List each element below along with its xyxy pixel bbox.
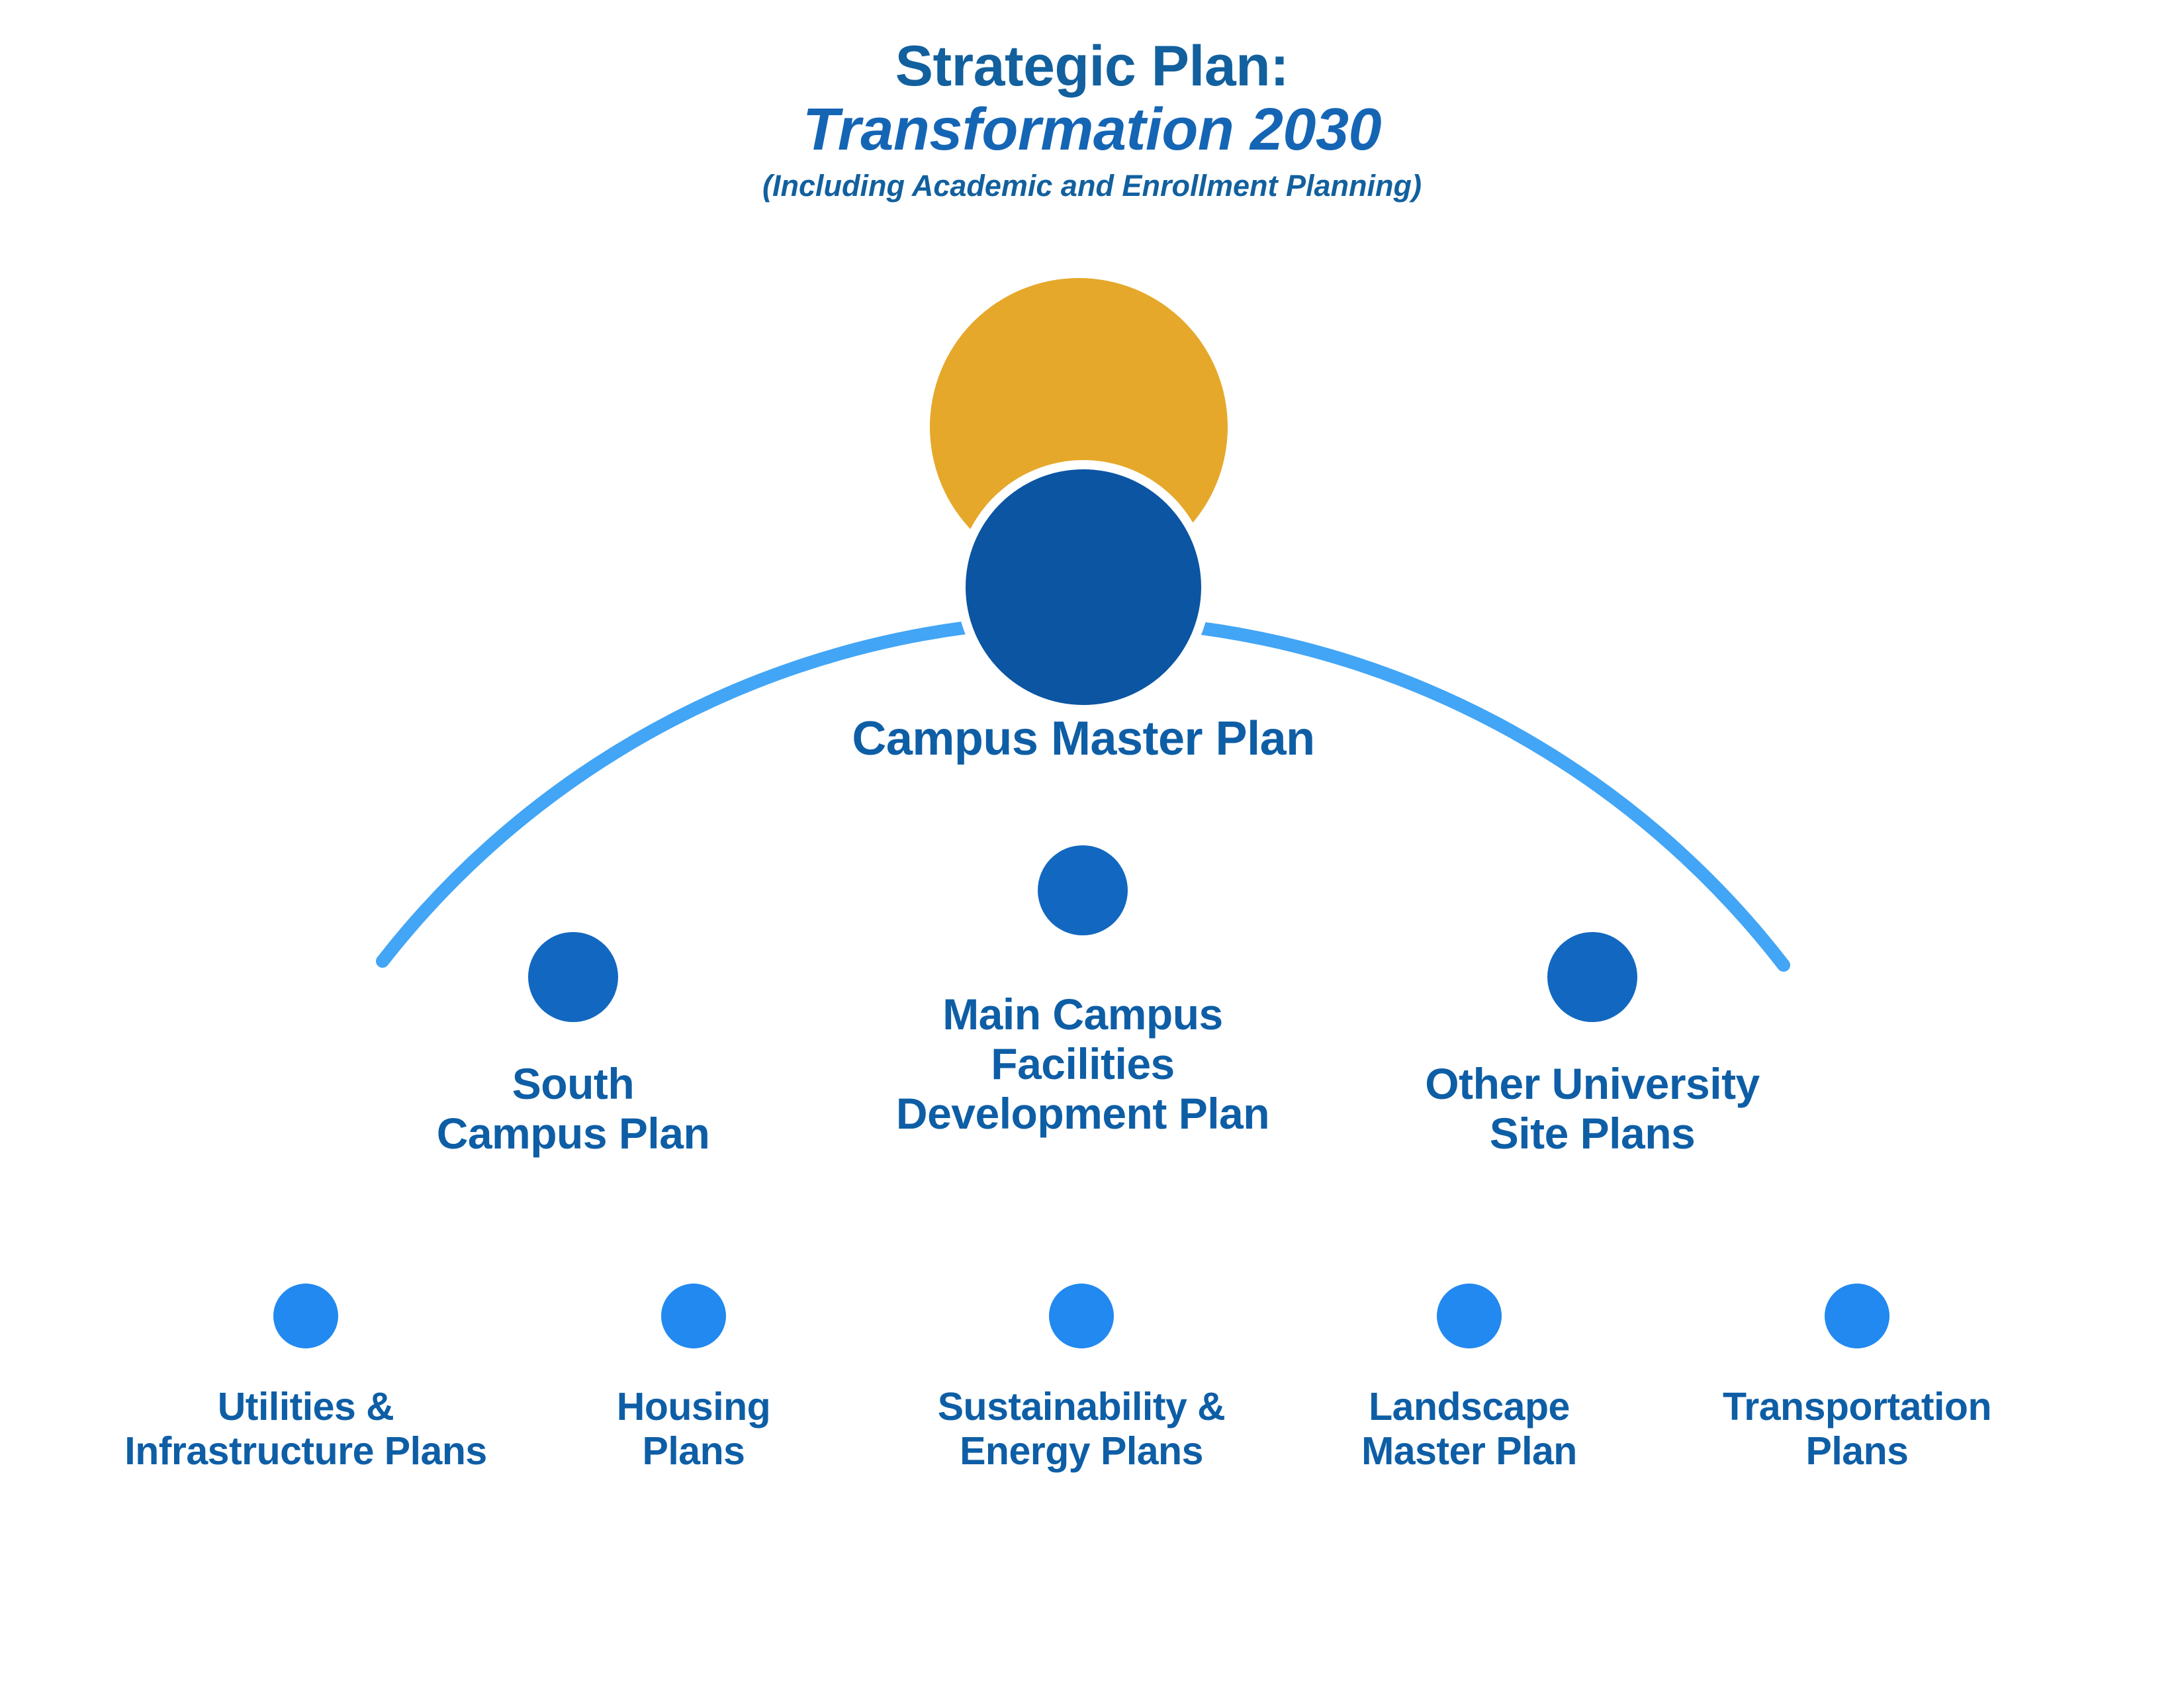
transportation-plans-circle[interactable] [1825,1284,1889,1348]
other-university-site-plans-circle[interactable] [1547,932,1637,1022]
sustainability-energy-plans-circle[interactable] [1049,1284,1114,1348]
plan-hierarchy-graphic [0,0,2184,1688]
landscape-master-plan-circle[interactable] [1437,1284,1502,1348]
campus-master-plan-circle[interactable] [966,469,1201,705]
diagram-canvas: Strategic Plan: Transformation 2030 (Inc… [0,0,2184,1688]
main-campus-facilities-development-plan-circle[interactable] [1038,845,1128,935]
south-campus-plan-circle[interactable] [528,932,618,1022]
utilities-infrastructure-plans-circle[interactable] [273,1284,338,1348]
housing-plans-circle[interactable] [661,1284,726,1348]
